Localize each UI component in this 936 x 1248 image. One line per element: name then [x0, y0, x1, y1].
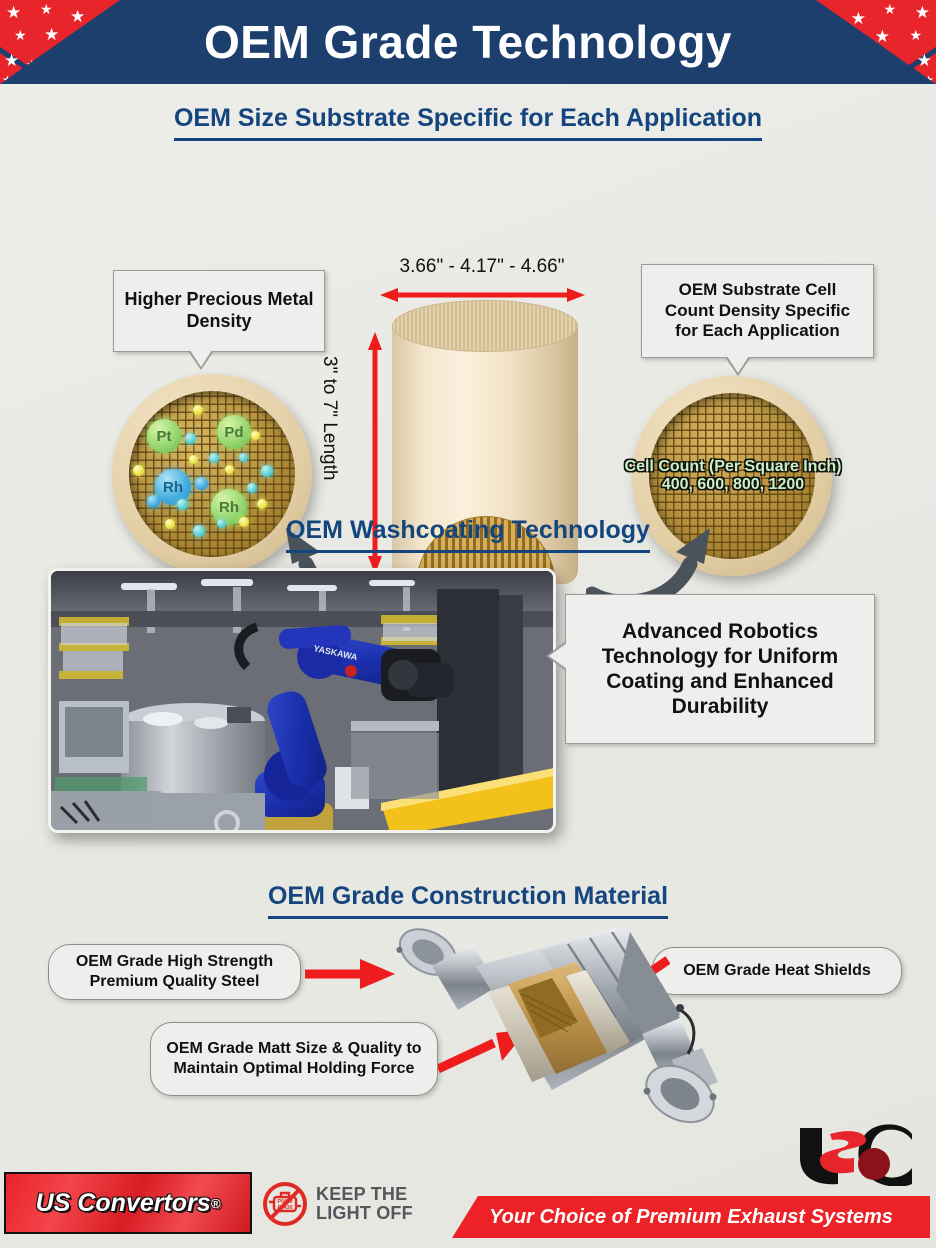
callout-text: Higher Precious Metal Density: [122, 289, 316, 332]
section-construction: OEM Grade Construction Material OEM Grad…: [0, 864, 936, 1164]
cell-count-label: Cell Count (Per Square Inch) 400, 600, 8…: [604, 458, 862, 495]
no-check-engine-light-icon: P0420 P0430: [262, 1181, 308, 1227]
star-icon: ★: [875, 28, 890, 45]
particle-dot: [261, 465, 273, 477]
catalytic-converter-illustration: [380, 914, 725, 1129]
star-icon: ★: [917, 52, 932, 69]
star-icon: ★: [2, 74, 13, 84]
page-footer: US Convertors® P0420 P0430 KEEP THE LIGH…: [0, 1158, 936, 1248]
star-icon: ★: [923, 74, 934, 84]
cell-count-values: 400, 600, 800, 1200: [604, 476, 862, 494]
particle-dot: [185, 433, 196, 444]
robotics-factory-photo: YASKAWA: [48, 568, 556, 833]
star-icon: ★: [851, 10, 866, 27]
page-header: ★ ★ ★ ★ ★ ★ ★ ★ OEM Grade Technology ★ ★…: [0, 0, 936, 84]
star-icon: ★: [909, 28, 922, 42]
particle-label: Pt: [157, 428, 172, 445]
particle-dot: [133, 465, 144, 476]
keep-light-off-label: KEEP THE LIGHT OFF: [316, 1185, 413, 1223]
particle-dot: [209, 453, 219, 463]
callout-text: Advanced Robotics Technology for Uniform…: [578, 619, 862, 720]
callout-tail-fill: [190, 350, 212, 367]
star-icon: ★: [883, 2, 896, 16]
section-heading-substrate: OEM Size Substrate Specific for Each App…: [0, 104, 936, 141]
particle-label: Pd: [224, 424, 243, 441]
dimension-width-label: 3.66" - 4.17" - 4.66": [372, 256, 592, 278]
callout-text: OEM Substrate Cell Count Density Specifi…: [652, 280, 863, 341]
star-icon: ★: [915, 4, 930, 21]
callout-advanced-robotics: Advanced Robotics Technology for Uniform…: [565, 594, 875, 744]
factory-scene-illustration: YASKAWA: [51, 571, 556, 833]
registered-mark: ®: [211, 1196, 221, 1211]
cylinder-top-honeycomb: [392, 300, 578, 352]
callout-tail-fill: [727, 356, 749, 373]
callout-higher-precious-metal-density: Higher Precious Metal Density: [113, 270, 325, 352]
star-icon: ★: [40, 2, 53, 16]
section-heading-washcoating-text: OEM Washcoating Technology: [286, 516, 650, 553]
particle-label: Rh: [163, 479, 183, 496]
page-title: OEM Grade Technology: [0, 15, 936, 69]
section-washcoating: OEM Washcoating Technology: [0, 504, 936, 864]
brand-name-text: US Convertors: [36, 1189, 211, 1218]
cell-count-title: Cell Count (Per Square Inch): [604, 458, 862, 476]
callout-text: OEM Grade High Strength Premium Quality …: [59, 952, 290, 992]
particle-dot: [247, 483, 257, 493]
usc-monogram-logo: [792, 1124, 918, 1186]
particle-pd: Pd: [217, 415, 251, 449]
particle-dot: [225, 465, 234, 474]
callout-tail-fill: [549, 643, 567, 669]
section-heading-substrate-text: OEM Size Substrate Specific for Each App…: [174, 104, 762, 141]
keep-light-line-1: KEEP THE: [316, 1185, 413, 1204]
callout-premium-quality-steel: OEM Grade High Strength Premium Quality …: [48, 944, 301, 1000]
dimension-height-label: 3" to 7" Length: [318, 356, 340, 480]
particle-dot: [239, 453, 248, 462]
brand-name: US Convertors®: [6, 1174, 250, 1232]
keep-light-line-2: LIGHT OFF: [316, 1204, 413, 1223]
particle-dot: [195, 477, 208, 490]
callout-cell-count-density: OEM Substrate Cell Count Density Specifi…: [641, 264, 874, 358]
particle-dot: [189, 455, 198, 464]
tagline-banner: Your Choice of Premium Exhaust Systems: [452, 1196, 930, 1238]
particle-dot: [251, 431, 260, 440]
keep-the-light-off-badge: P0420 P0430 KEEP THE LIGHT OFF: [262, 1178, 432, 1230]
particle-pt: Pt: [147, 419, 181, 453]
section-heading-construction: OEM Grade Construction Material: [0, 864, 936, 919]
section-heading-washcoating: OEM Washcoating Technology: [0, 504, 936, 553]
us-convertors-logo: US Convertors®: [4, 1172, 252, 1234]
infographic-page: ★ ★ ★ ★ ★ ★ ★ ★ OEM Grade Technology ★ ★…: [0, 0, 936, 1248]
particle-dot: [193, 405, 203, 415]
section-substrate: OEM Size Substrate Specific for Each App…: [0, 104, 936, 504]
tagline-text: Your Choice of Premium Exhaust Systems: [489, 1206, 893, 1229]
